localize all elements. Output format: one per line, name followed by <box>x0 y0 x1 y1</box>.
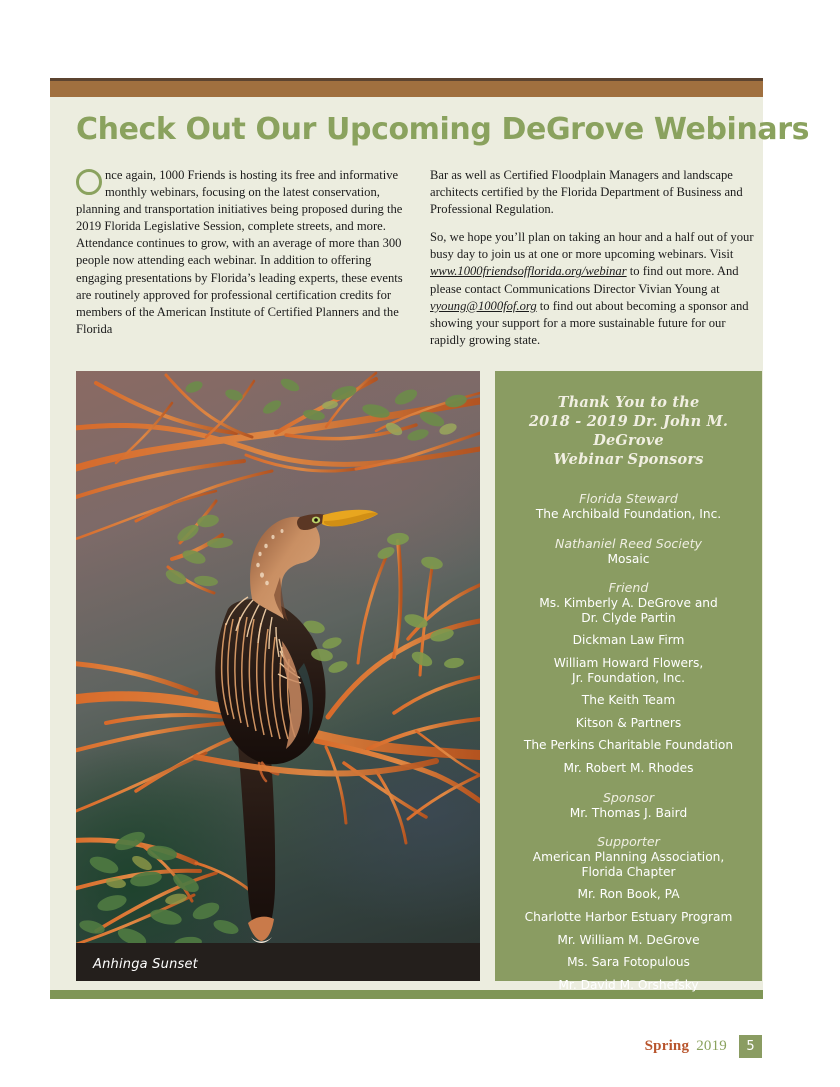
page-number-badge: 5 <box>739 1035 762 1058</box>
sponsor-name: The Archibald Foundation, Inc. <box>507 507 750 522</box>
page-footer: Spring 2019 5 <box>0 1035 840 1065</box>
sponsor-name: The Perkins Charitable Foundation <box>507 738 750 753</box>
sponsor-tier-label: Nathaniel Reed Society <box>507 536 750 551</box>
sponsor-title-line-1: Thank You to the <box>507 393 750 412</box>
contact-email-link[interactable]: vyoung@1000fof.org <box>430 299 537 313</box>
sponsor-tier-label: Supporter <box>507 834 750 849</box>
sponsor-name: The Keith Team <box>507 693 750 708</box>
invitation-text-part-1: So, we hope you’ll plan on taking an hou… <box>430 230 754 261</box>
sponsor-tier-label: Sponsor <box>507 790 750 805</box>
sponsor-name: Mr. William M. DeGrove <box>507 933 750 948</box>
sponsor-name: Mr. Robert M. Rhodes <box>507 761 750 776</box>
sponsor-tier-list: Florida StewardThe Archibald Foundation,… <box>507 491 750 1075</box>
body-column-left: nce again, 1000 Friends is hosting its f… <box>76 167 412 338</box>
sponsor-name: Mr. Ron Book, PA <box>507 887 750 902</box>
sponsor-panel-title: Thank You to the 2018 - 2019 Dr. John M.… <box>507 393 750 469</box>
webinar-url-link[interactable]: www.1000friendsofflorida.org/webinar <box>430 264 627 278</box>
sponsor-name: Mr. Thomas J. Baird <box>507 806 750 821</box>
sponsor-tier-label: Florida Steward <box>507 491 750 506</box>
sponsor-name: Kitson & Partners <box>507 716 750 731</box>
body-column-right: Bar as well as Certified Floodplain Mana… <box>430 167 756 349</box>
page-title: Check Out Our Upcoming DeGrove Webinars <box>76 112 756 147</box>
issue-season: Spring <box>645 1038 690 1055</box>
sponsor-panel: Thank You to the 2018 - 2019 Dr. John M.… <box>495 371 762 981</box>
sponsor-name: Dickman Law Firm <box>507 633 750 648</box>
sponsor-name: American Planning Association,Florida Ch… <box>507 850 750 879</box>
photo-illustration <box>76 371 480 981</box>
drop-cap-ring <box>76 169 102 195</box>
paragraph-intro-text: nce again, 1000 Friends is hosting its f… <box>76 168 403 336</box>
photo-caption: Anhinga Sunset <box>93 957 198 972</box>
paragraph-certifications: Bar as well as Certified Floodplain Mana… <box>430 167 756 218</box>
paragraph-invitation: So, we hope you’ll plan on taking an hou… <box>430 229 756 349</box>
paragraph-intro: nce again, 1000 Friends is hosting its f… <box>76 167 412 338</box>
newsletter-page: Check Out Our Upcoming DeGrove Webinars … <box>0 0 840 1087</box>
top-decorative-rule <box>50 78 763 97</box>
sponsor-title-line-3: Webinar Sponsors <box>507 450 750 469</box>
issue-year: 2019 <box>696 1038 727 1055</box>
sponsor-name: Charlotte Harbor Estuary Program <box>507 910 750 925</box>
sponsor-name: William Howard Flowers,Jr. Foundation, I… <box>507 656 750 685</box>
bird-neck <box>250 517 320 619</box>
sponsor-name: Ms. Kimberly A. DeGrove andDr. Clyde Par… <box>507 596 750 625</box>
article-photo: Anhinga Sunset <box>76 371 480 981</box>
sponsor-tier-label: Friend <box>507 580 750 595</box>
sponsor-name: Ms. Nancy Ellen Stroud <box>507 1000 750 1015</box>
footer-inner: Spring 2019 5 <box>645 1035 762 1058</box>
sponsor-title-line-2: 2018 - 2019 Dr. John M. DeGrove <box>507 412 750 450</box>
sponsor-name: Mosaic <box>507 552 750 567</box>
sponsor-name: Mr. David M. Orshefsky <box>507 978 750 993</box>
sponsor-name: Ms. Sara Fotopulous <box>507 955 750 970</box>
